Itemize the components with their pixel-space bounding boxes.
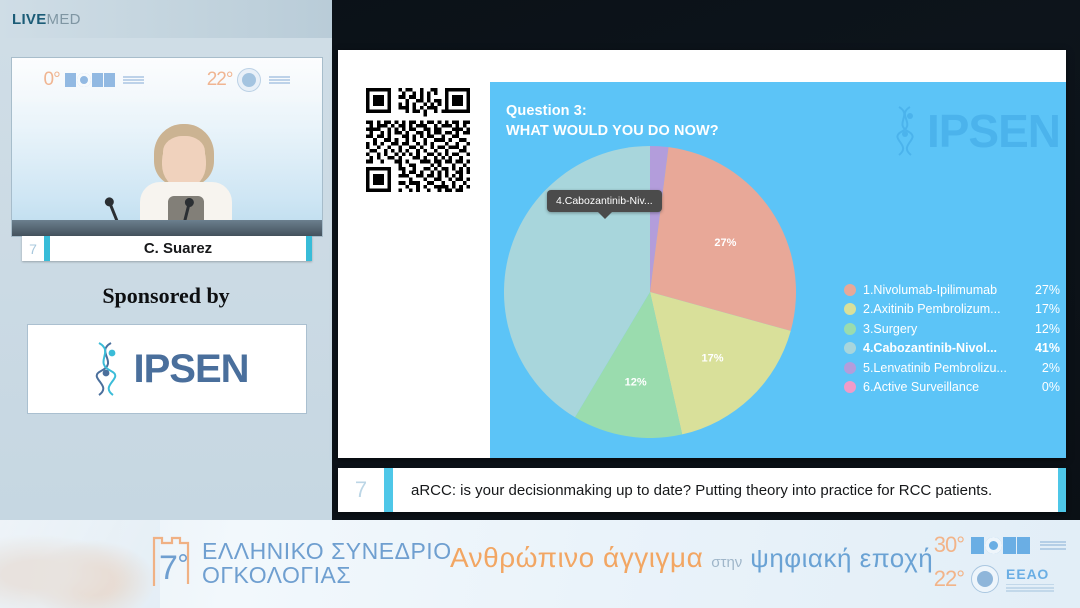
- legend-item[interactable]: 5.Lenvatinib Pembrolizu...2%: [844, 358, 1060, 378]
- congress-name-line1: ΕΛΛΗΝΙΚΟ ΣΥΝΕΔΡΙΟ: [202, 539, 452, 563]
- poll-question-line2: WHAT WOULD YOU DO NOW?: [506, 121, 719, 141]
- podium: [12, 220, 322, 236]
- legend-item[interactable]: 1.Nivolumab-Ipilimumab27%: [844, 280, 1060, 300]
- eope-ordinal-stage: 0°: [44, 69, 60, 91]
- congress-footer-banner: 7 ΕΛΛΗΝΙΚΟ ΣΥΝΕΔΡΙΟ ΟΓΚΟΛΟΓΙΑΣ Ανθρώπινο…: [0, 520, 1080, 608]
- poll-question-title: Question 3: WHAT WOULD YOU DO NOW?: [506, 101, 719, 141]
- eeao-subtext-stage: [269, 76, 290, 84]
- speaker-nameplate: 7 C. Suarez: [22, 236, 312, 261]
- tagline-orange: Ανθρώπινο άγγιγμα: [450, 542, 703, 574]
- legend-value: 17%: [1035, 302, 1060, 316]
- legend-swatch: [844, 303, 856, 315]
- eope-mark-icon: [971, 537, 1030, 554]
- legend-label: 1.Nivolumab-Ipilimumab: [863, 283, 1031, 297]
- congress-seven-icon-caption: 7: [338, 477, 384, 503]
- legend-label: 2.Axitinib Pembrolizum...: [863, 302, 1031, 316]
- ipsen-wordmark: IPSEN: [133, 347, 248, 392]
- ipsen-helix-icon: [85, 340, 127, 398]
- pie-slice-label: 27%: [714, 237, 736, 249]
- legend-label: 6.Active Surveillance: [863, 380, 1038, 394]
- pie-slice-label: 12%: [625, 376, 647, 388]
- society-logo-eope: 30°: [930, 532, 1066, 558]
- session-title: aRCC: is your decisionmaking up to date?…: [393, 482, 1058, 499]
- eeao-logo-stage: 22°: [207, 68, 291, 92]
- caption-accent-left: [384, 468, 393, 512]
- poll-result-panel: Question 3: WHAT WOULD YOU DO NOW? IPSEN…: [490, 82, 1066, 458]
- eeao-seal-icon: [971, 565, 999, 593]
- legend-item[interactable]: 3.Surgery12%: [844, 319, 1060, 339]
- tagline-blue: ψηφιακή εποχή: [750, 543, 933, 574]
- session-caption-bar: 7 aRCC: is your decisionmaking up to dat…: [338, 468, 1066, 512]
- legend-label: 4.Cabozantinib-Nivol...: [863, 341, 1031, 355]
- presentation-slide: Question 3: WHAT WOULD YOU DO NOW? IPSEN…: [338, 50, 1066, 458]
- svg-text:7: 7: [159, 549, 178, 587]
- eope-logo-stage: 0°: [44, 69, 144, 91]
- legend-label: 3.Surgery: [863, 322, 1031, 336]
- speaker-head: [162, 136, 206, 188]
- tagline-small: στην: [711, 554, 742, 571]
- society-logo-eeao: 22° ΕΕΑΟ: [930, 565, 1066, 593]
- congress-logo: 7 ΕΛΛΗΝΙΚΟ ΣΥΝΕΔΡΙΟ ΟΓΚΟΛΟΓΙΑΣ: [150, 534, 452, 592]
- legend-item[interactable]: 2.Axitinib Pembrolizum...17%: [844, 300, 1060, 320]
- poll-question-line1: Question 3:: [506, 101, 719, 121]
- congress-seven-icon-footer: 7: [150, 534, 194, 592]
- legend-swatch: [844, 362, 856, 374]
- legend-label: 5.Lenvatinib Pembrolizu...: [863, 361, 1038, 375]
- pie-tooltip: 4.Cabozantinib-Niv...: [547, 190, 662, 212]
- eope-mark-stage: [65, 73, 115, 87]
- legend-item[interactable]: 6.Active Surveillance0%: [844, 378, 1060, 398]
- sponsor-logo-ipsen: IPSEN: [28, 325, 306, 413]
- stage-backdrop-banner: 0° 22°: [12, 58, 322, 102]
- nameplate-accent-right: [306, 236, 312, 261]
- legend-value: 12%: [1035, 322, 1060, 336]
- speaker-video[interactable]: 0° 22°: [12, 58, 322, 236]
- ipsen-watermark-text: IPSEN: [927, 104, 1060, 158]
- eeao-ordinal: 22°: [930, 566, 964, 592]
- caption-accent-right: [1058, 468, 1066, 512]
- pie-legend: 1.Nivolumab-Ipilimumab27%2.Axitinib Pemb…: [844, 280, 1060, 397]
- qr-code-icon[interactable]: [366, 88, 470, 192]
- congress-seven-icon: 7: [22, 236, 44, 261]
- eope-subtext: [1040, 541, 1066, 550]
- eeao-name: ΕΕΑΟ: [1006, 566, 1054, 582]
- eeao-wordmark: ΕΕΑΟ: [1006, 566, 1054, 591]
- livemed-logo: LIVEMED: [12, 11, 81, 28]
- legend-value: 27%: [1035, 283, 1060, 297]
- eeao-ordinal-stage: 22°: [207, 69, 233, 91]
- eope-subtext-stage: [123, 76, 144, 84]
- congress-tagline: Ανθρώπινο άγγιγμα στην ψηφιακή εποχή: [450, 542, 933, 574]
- legend-value: 0%: [1042, 380, 1060, 394]
- livemed-logo-med: MED: [47, 11, 81, 28]
- pie-slice-label: 17%: [701, 353, 723, 365]
- congress-name-line2: ΟΓΚΟΛΟΓΙΑΣ: [202, 563, 452, 587]
- livemed-logo-live: LIVE: [12, 11, 47, 28]
- legend-value: 41%: [1035, 341, 1060, 355]
- legend-swatch: [844, 284, 856, 296]
- livemed-header: LIVEMED: [0, 0, 332, 38]
- eeao-seal-stage: [237, 68, 261, 92]
- congress-name: ΕΛΛΗΝΙΚΟ ΣΥΝΕΔΡΙΟ ΟΓΚΟΛΟΓΙΑΣ: [202, 539, 452, 587]
- legend-value: 2%: [1042, 361, 1060, 375]
- legend-item[interactable]: 4.Cabozantinib-Nivol...41%: [844, 339, 1060, 359]
- sponsored-by-label: Sponsored by: [0, 283, 332, 309]
- ipsen-helix-watermark-icon: [887, 105, 923, 157]
- screen: LIVEMED 0° 22° 7 C: [0, 0, 1080, 608]
- eope-ordinal: 30°: [930, 532, 964, 558]
- speaker-name: C. Suarez: [50, 236, 306, 261]
- legend-swatch: [844, 342, 856, 354]
- legend-swatch: [844, 323, 856, 335]
- footer-photo: [0, 520, 160, 608]
- legend-swatch: [844, 381, 856, 393]
- society-logos: 30° 22° ΕΕΑΟ: [930, 532, 1066, 593]
- ipsen-watermark: IPSEN: [887, 104, 1060, 158]
